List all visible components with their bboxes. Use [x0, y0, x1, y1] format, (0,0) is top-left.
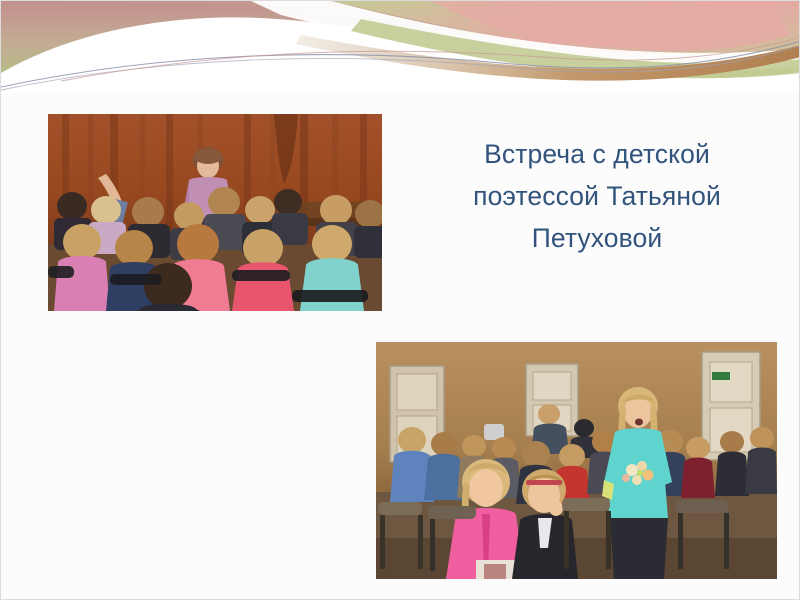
banner-tan-swoosh [296, 35, 800, 81]
headband [526, 480, 562, 485]
banner-white-wave [1, 17, 800, 93]
photo-audience [376, 342, 777, 579]
title-line-3: Петуховой [409, 217, 785, 259]
title-line-2: поэтессой Татьяной [409, 175, 785, 217]
banner-base [1, 1, 800, 93]
photo-audience-svg [376, 342, 777, 579]
banner-green-tail [351, 19, 800, 78]
wave-banner-svg [1, 1, 800, 93]
banner-right-lobe [331, 1, 800, 78]
exit-sign [712, 372, 730, 380]
banner-white-ribbon [251, 1, 800, 71]
photo-assembly-svg [48, 114, 382, 311]
page-title: Встреча с детской поэтессой Татьяной Пет… [409, 133, 785, 259]
banner-slate-line-b [1, 46, 800, 90]
slide-canvas: Встреча с детской поэтессой Татьяной Пет… [0, 0, 800, 600]
banner-rose-line [61, 37, 800, 81]
banner-slate-line-a [1, 41, 800, 87]
banner-mid-sweep [1, 1, 800, 63]
title-line-1: Встреча с детской [409, 133, 785, 175]
photo-assembly [48, 114, 382, 311]
banner-pink-highlight [431, 1, 791, 51]
wave-banner-decoration [1, 1, 800, 93]
